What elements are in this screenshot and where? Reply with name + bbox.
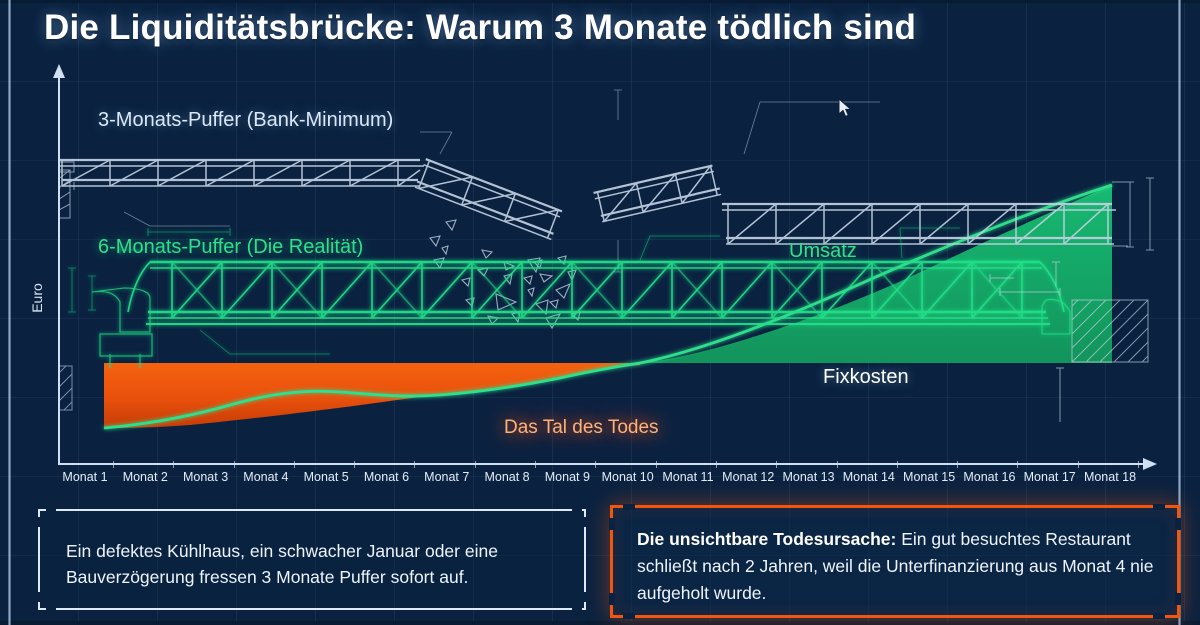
x-axis-tick [234, 461, 235, 468]
label-3-month-buffer: 3-Monats-Puffer (Bank-Minimum) [98, 109, 393, 132]
x-axis-tick [113, 461, 114, 468]
x-axis-month-18: Monat 18 [1084, 470, 1136, 484]
x-axis-month-9: Monat 9 [545, 470, 590, 484]
callout-left: Ein defektes Kühlhaus, ein schwacher Jan… [38, 509, 586, 610]
x-axis-tick [1138, 461, 1139, 468]
x-axis-month-7: Monat 7 [424, 470, 469, 484]
x-axis-month-3: Monat 3 [183, 470, 228, 484]
page-title: Die Liquiditätsbrücke: Warum 3 Monate tö… [44, 8, 916, 48]
x-axis-month-4: Monat 4 [243, 470, 288, 484]
y-axis-label: Euro [29, 258, 45, 338]
x-axis-tick [475, 461, 476, 468]
x-axis-month-8: Monat 8 [484, 470, 529, 484]
x-axis-month-11: Monat 11 [662, 470, 713, 484]
x-axis-tick [294, 461, 295, 468]
x-axis-tick [1078, 461, 1079, 468]
x-axis-tick [897, 461, 898, 468]
x-axis-tick [173, 461, 174, 468]
x-axis-month-5: Monat 5 [304, 470, 349, 484]
bottom-edge-strip [0, 621, 1200, 625]
x-axis-tick [957, 461, 958, 468]
x-axis-month-12: Monat 12 [722, 470, 774, 484]
callout-right-heading: Die unsichtbare Todesursache: [637, 529, 896, 549]
x-axis-month-15: Monat 15 [903, 470, 955, 484]
label-revenue: Umsatz [789, 240, 857, 263]
x-axis-month-10: Monat 10 [602, 470, 654, 484]
x-axis-tick [535, 461, 536, 468]
x-axis-month-13: Monat 13 [782, 470, 834, 484]
technical-hatching-left [8, 332, 72, 410]
x-axis-tick [414, 461, 415, 468]
x-axis-month-2: Monat 2 [123, 470, 168, 484]
x-axis-tick [776, 461, 777, 468]
x-axis-tick [1017, 461, 1018, 468]
label-valley-of-death: Das Tal des Todes [504, 417, 659, 439]
x-axis-month-17: Monat 17 [1024, 470, 1076, 484]
x-axis-month-6: Monat 6 [364, 470, 409, 484]
mouse-cursor [838, 98, 852, 118]
x-axis-tick [656, 461, 657, 468]
x-axis-tick [595, 461, 596, 468]
x-axis-tick [837, 461, 838, 468]
label-fixed-costs: Fixkosten [823, 366, 909, 389]
x-axis-tick [354, 461, 355, 468]
x-axis-month-14: Monat 14 [843, 470, 895, 484]
top-edge-strip [0, 0, 1200, 3]
x-axis-month-1: Monat 1 [62, 470, 107, 484]
label-6-month-buffer: 6-Monats-Puffer (Die Realität) [98, 236, 363, 259]
callout-right: Die unsichtbare Todesursache: Ein gut be… [610, 505, 1180, 618]
callout-right-text: Die unsichtbare Todesursache: Ein gut be… [637, 526, 1171, 607]
x-axis-month-labels: Monat 1Monat 2Monat 3Monat 4Monat 5Monat… [0, 470, 1200, 492]
callout-left-text: Ein defektes Kühlhaus, ein schwacher Jan… [66, 538, 566, 590]
liquidity-chart: Euro 3-Monats-Puffer (Bank-Minimum) 6-Mo… [0, 62, 1200, 492]
x-axis-month-16: Monat 16 [963, 470, 1015, 484]
slide-canvas: Die Liquiditätsbrücke: Warum 3 Monate tö… [0, 0, 1200, 625]
x-axis-tick [716, 461, 717, 468]
